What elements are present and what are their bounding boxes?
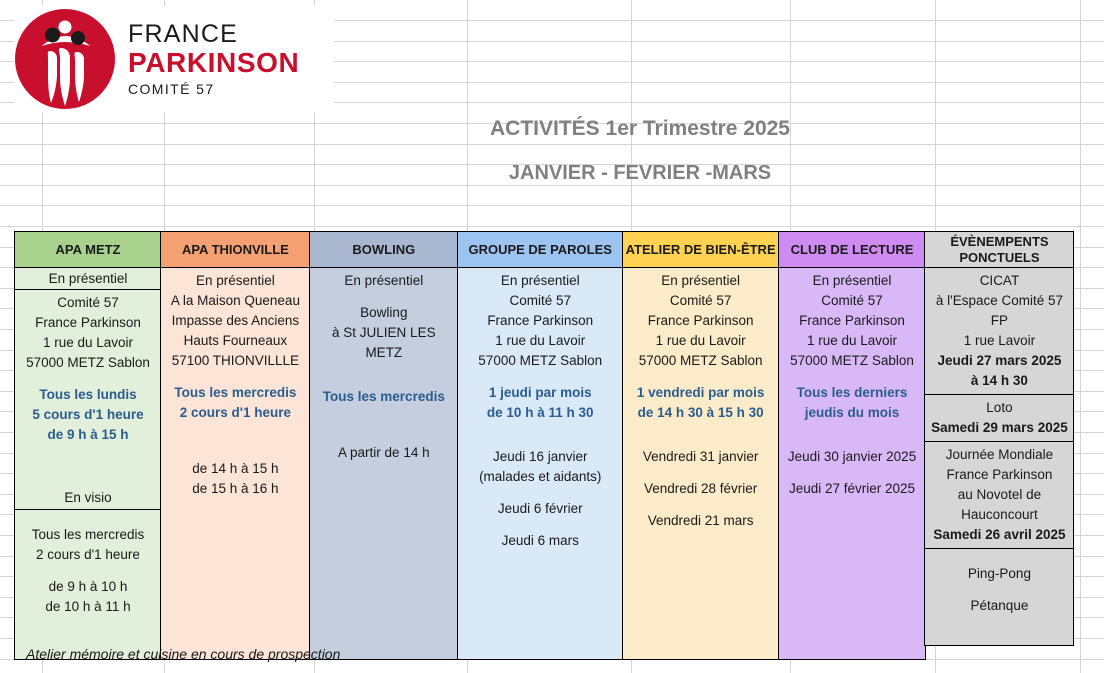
spacer xyxy=(165,371,305,383)
cell-line: de 15 h à 16 h xyxy=(165,479,305,499)
column-header-evenements-ponctuels: ÉVÈNEMPENTS PONCTUELS xyxy=(925,232,1073,268)
logo-wordmark: FRANCE PARKINSON COMITÉ 57 xyxy=(128,22,299,96)
section-band: En visio xyxy=(15,488,161,510)
spacer xyxy=(783,435,921,447)
cell-line: de 9 h à 15 h xyxy=(19,425,157,445)
section-body: Ping-PongPétanque xyxy=(925,549,1073,645)
cell-line: Comité 57 xyxy=(19,293,157,313)
section-body: Tous les mercredis2 cours d'1 heurede 9 … xyxy=(15,510,161,660)
cell-line: Comité 57 xyxy=(783,291,921,311)
spacer xyxy=(165,435,305,447)
column-header-apa-metz: APA METZ xyxy=(15,232,161,268)
cell-line: France Parkinson xyxy=(19,313,157,333)
spacer xyxy=(627,371,775,383)
cell-line: Tous les mercredis xyxy=(19,525,157,545)
spacer xyxy=(462,371,618,383)
cell-line: Hauconcourt xyxy=(929,505,1069,525)
spacer xyxy=(783,467,921,479)
cell-line: (malades et aidants) xyxy=(462,467,618,487)
section-body: En présentielA la Maison QueneauImpasse … xyxy=(161,268,309,659)
cell-line: France Parkinson xyxy=(627,311,775,331)
spacer xyxy=(314,363,454,375)
section-body: En présentielComité 57France Parkinson1 … xyxy=(623,268,779,659)
cell-line: Jeudi 6 mars xyxy=(462,531,618,551)
column-atelier-de-bien-etre: ATELIER DE BIEN-ÊTREEn présentielComité … xyxy=(622,231,780,660)
section-body: CICATà l'Espace Comité 57 FP1 rue Lavoir… xyxy=(925,268,1073,395)
cell-line: 1 rue du Lavoir xyxy=(462,331,618,351)
footer-note: Atelier mémoire et cuisine en cours de p… xyxy=(26,646,340,662)
spacer xyxy=(314,431,454,443)
cell-line: 57000 METZ Sablon xyxy=(19,353,157,373)
logo-line-comite: COMITÉ 57 xyxy=(128,82,299,96)
cell-line: Vendredi 28 février xyxy=(627,479,775,499)
spacer xyxy=(929,552,1069,564)
cell-line: de 14 h 30 à 15 h 30 xyxy=(627,403,775,423)
france-parkinson-roundel-icon xyxy=(14,8,116,110)
spacer xyxy=(462,435,618,447)
spacer xyxy=(627,467,775,479)
cell-line: En présentiel xyxy=(165,271,305,291)
cell-line: Comité 57 xyxy=(627,291,775,311)
cell-line: Hauts Fourneaux xyxy=(165,331,305,351)
section-body: En présentielComité 57France Parkinson1 … xyxy=(779,268,925,659)
cell-line: Vendredi 31 janvier xyxy=(627,447,775,467)
spacer xyxy=(19,513,157,525)
cell-line: à l'Espace Comité 57 FP xyxy=(929,291,1069,331)
cell-line: 2 cours d'1 heure xyxy=(19,545,157,565)
cell-line: Tous les derniers xyxy=(783,383,921,403)
cell-line: à St JULIEN LES METZ xyxy=(314,323,454,363)
cell-line: Vendredi 21 mars xyxy=(627,511,775,531)
cell-line: 1 rue du Lavoir xyxy=(783,331,921,351)
cell-line: En présentiel xyxy=(627,271,775,291)
page-title: ACTIVITÉS 1er Trimestre 2025 xyxy=(330,114,950,144)
cell-line: 1 jeudi par mois xyxy=(462,383,618,403)
section-body: En présentielComité 57France Parkinson1 … xyxy=(458,268,622,659)
logo-line-parkinson: PARKINSON xyxy=(128,49,299,77)
cell-line: Jeudi 27 février 2025 xyxy=(783,479,921,499)
cell-line: Pétanque xyxy=(929,596,1069,616)
cell-line: A la Maison Queneau xyxy=(165,291,305,311)
activities-table: APA METZEn présentielComité 57France Par… xyxy=(14,231,1073,660)
cell-line: de 14 h à 15 h xyxy=(165,459,305,479)
cell-line: Impasse des Anciens xyxy=(165,311,305,331)
cell-line: En présentiel xyxy=(314,271,454,291)
cell-line: Samedi 26 avril 2025 xyxy=(929,525,1069,545)
spacer xyxy=(462,487,618,499)
column-apa-thionville: APA THIONVILLEEn présentielA la Maison Q… xyxy=(160,231,310,660)
cell-line: 1 vendredi par mois xyxy=(627,383,775,403)
cell-line: Bowling xyxy=(314,303,454,323)
spacer xyxy=(462,423,618,435)
spacer xyxy=(314,291,454,303)
cell-line: France Parkinson xyxy=(462,311,618,331)
cell-line: Jeudi 6 février xyxy=(462,499,618,519)
section-body: Journée MondialeFrance Parkinsonau Novot… xyxy=(925,442,1073,549)
cell-line: 57000 METZ Sablon xyxy=(462,351,618,371)
section-band: En présentiel xyxy=(15,268,161,290)
spacer xyxy=(627,435,775,447)
cell-line: En présentiel xyxy=(462,271,618,291)
section-body: LotoSamedi 29 mars 2025 xyxy=(925,395,1073,442)
logo-line-france: FRANCE xyxy=(128,22,299,47)
cell-line: France Parkinson xyxy=(783,311,921,331)
page-subtitle: JANVIER - FEVRIER -MARS xyxy=(330,158,950,188)
spacer xyxy=(783,423,921,435)
cell-line: 57100 THIONVILLLE xyxy=(165,351,305,371)
page-title-block: ACTIVITÉS 1er Trimestre 2025 JANVIER - F… xyxy=(330,114,950,188)
column-groupe-de-paroles: GROUPE DE PAROLESEn présentielComité 57F… xyxy=(457,231,623,660)
column-bowling: BOWLINGEn présentielBowlingà St JULIEN L… xyxy=(309,231,459,660)
spacer xyxy=(627,499,775,511)
cell-line: Jeudi 27 mars 2025 xyxy=(929,351,1069,371)
spacer xyxy=(165,447,305,459)
cell-line: à 14 h 30 xyxy=(929,371,1069,391)
spacer xyxy=(314,407,454,419)
column-header-apa-thionville: APA THIONVILLE xyxy=(161,232,309,268)
cell-line: En présentiel xyxy=(783,271,921,291)
france-parkinson-logo: FRANCE PARKINSON COMITÉ 57 xyxy=(14,6,334,112)
cell-line: Tous les lundis xyxy=(19,385,157,405)
spacer xyxy=(314,375,454,387)
column-club-de-lecture: CLUB DE LECTUREEn présentielComité 57Fra… xyxy=(778,231,926,660)
cell-line: Journée Mondiale xyxy=(929,445,1069,465)
cell-line: 2 cours d'1 heure xyxy=(165,403,305,423)
spacer xyxy=(929,584,1069,596)
column-header-club-de-lecture: CLUB DE LECTURE xyxy=(779,232,925,268)
cell-line: Tous les mercredis xyxy=(314,387,454,407)
cell-line: CICAT xyxy=(929,271,1069,291)
cell-line: 57000 METZ Sablon xyxy=(627,351,775,371)
cell-line: 1 rue Lavoir xyxy=(929,331,1069,351)
section-body: En présentielBowlingà St JULIEN LES METZ… xyxy=(310,268,458,659)
spacer xyxy=(19,373,157,385)
cell-line: 1 rue du Lavoir xyxy=(19,333,157,353)
cell-line: Tous les mercredis xyxy=(165,383,305,403)
column-header-groupe-de-paroles: GROUPE DE PAROLES xyxy=(458,232,622,268)
spacer xyxy=(462,519,618,531)
spacer xyxy=(19,565,157,577)
cell-line: de 9 h à 10 h xyxy=(19,577,157,597)
spacer xyxy=(783,371,921,383)
cell-line: A partir de 14 h xyxy=(314,443,454,463)
column-evenements-ponctuels: ÉVÈNEMPENTS PONCTUELSCICATà l'Espace Com… xyxy=(924,231,1074,646)
cell-line: 5 cours d'1 heure xyxy=(19,405,157,425)
spacer xyxy=(314,419,454,431)
column-apa-metz: APA METZEn présentielComité 57France Par… xyxy=(14,231,162,660)
cell-line: de 10 h à 11 h xyxy=(19,597,157,617)
cell-line: 57000 METZ Sablon xyxy=(783,351,921,371)
cell-line: Jeudi 30 janvier 2025 xyxy=(783,447,921,467)
spacer xyxy=(627,423,775,435)
column-header-atelier-de-bien-etre: ATELIER DE BIEN-ÊTRE xyxy=(623,232,779,268)
cell-line: 1 rue du Lavoir xyxy=(627,331,775,351)
section-body: Comité 57France Parkinson1 rue du Lavoir… xyxy=(15,290,161,488)
cell-line: Comité 57 xyxy=(462,291,618,311)
cell-line: jeudis du mois xyxy=(783,403,921,423)
cell-line: Loto xyxy=(929,398,1069,418)
cell-line: France Parkinson xyxy=(929,465,1069,485)
cell-line: Samedi 29 mars 2025 xyxy=(929,418,1069,438)
cell-line: au Novotel de xyxy=(929,485,1069,505)
column-header-bowling: BOWLING xyxy=(310,232,458,268)
cell-line: Ping-Pong xyxy=(929,564,1069,584)
cell-line: Jeudi 16 janvier xyxy=(462,447,618,467)
cell-line: de 10 h à 11 h 30 xyxy=(462,403,618,423)
spacer xyxy=(165,423,305,435)
